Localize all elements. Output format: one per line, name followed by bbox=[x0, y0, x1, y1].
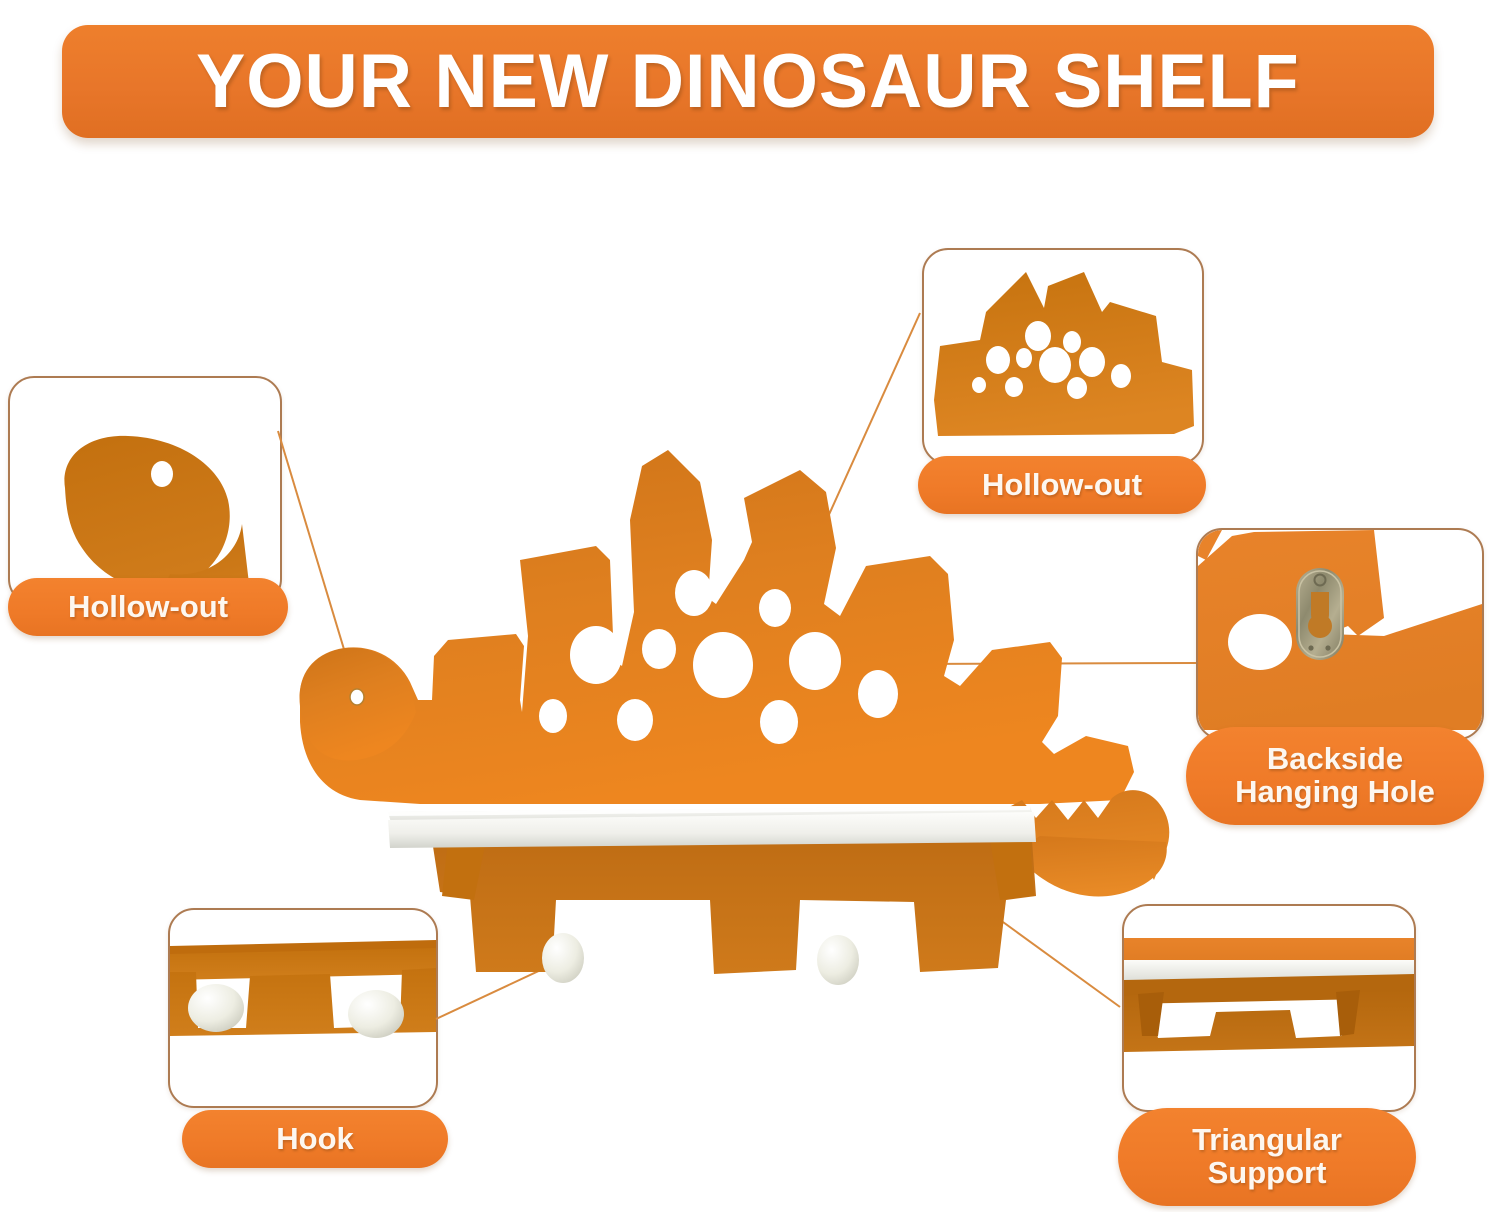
dinosaur-tail bbox=[1000, 790, 1169, 896]
callout-label-hook: Hook bbox=[182, 1110, 448, 1168]
eye-hole bbox=[350, 689, 364, 705]
leader-support bbox=[929, 868, 1120, 1008]
leader-hanging bbox=[905, 662, 1196, 665]
callout-label-hollow-out-head: Hollow-out bbox=[8, 578, 288, 636]
hook-knobs bbox=[542, 933, 859, 985]
page-title: YOUR NEW DINOSAUR SHELF bbox=[196, 44, 1300, 120]
detail-triangular-support bbox=[1124, 906, 1414, 1110]
callout-box-hook bbox=[168, 908, 438, 1108]
detail-hook bbox=[170, 910, 436, 1106]
callout-box-hollow-out-plates bbox=[922, 248, 1204, 465]
infographic-canvas: YOUR NEW DINOSAUR SHELF bbox=[0, 0, 1500, 1207]
callout-box-backside-hanging-hole bbox=[1196, 528, 1484, 740]
callout-label-backside-hanging-hole: Backside Hanging Hole bbox=[1186, 727, 1484, 825]
callout-box-hollow-out-head bbox=[8, 376, 282, 605]
leader-hook bbox=[436, 960, 561, 1020]
detail-head-hollow-out bbox=[10, 378, 280, 603]
shelf-board bbox=[388, 806, 1036, 848]
callout-label-hollow-out-plates: Hollow-out bbox=[918, 456, 1206, 514]
detail-hanging-hole bbox=[1198, 530, 1482, 738]
dinosaur-lower-body bbox=[432, 840, 1036, 974]
callout-box-triangular-support bbox=[1122, 904, 1416, 1112]
hollow-out-holes bbox=[539, 570, 898, 744]
leader-plates bbox=[789, 313, 921, 602]
callout-label-triangular-support: Triangular Support bbox=[1118, 1108, 1416, 1206]
leader-head bbox=[277, 431, 357, 690]
title-banner: YOUR NEW DINOSAUR SHELF bbox=[62, 25, 1434, 138]
detail-plates-hollow-out bbox=[924, 250, 1202, 463]
